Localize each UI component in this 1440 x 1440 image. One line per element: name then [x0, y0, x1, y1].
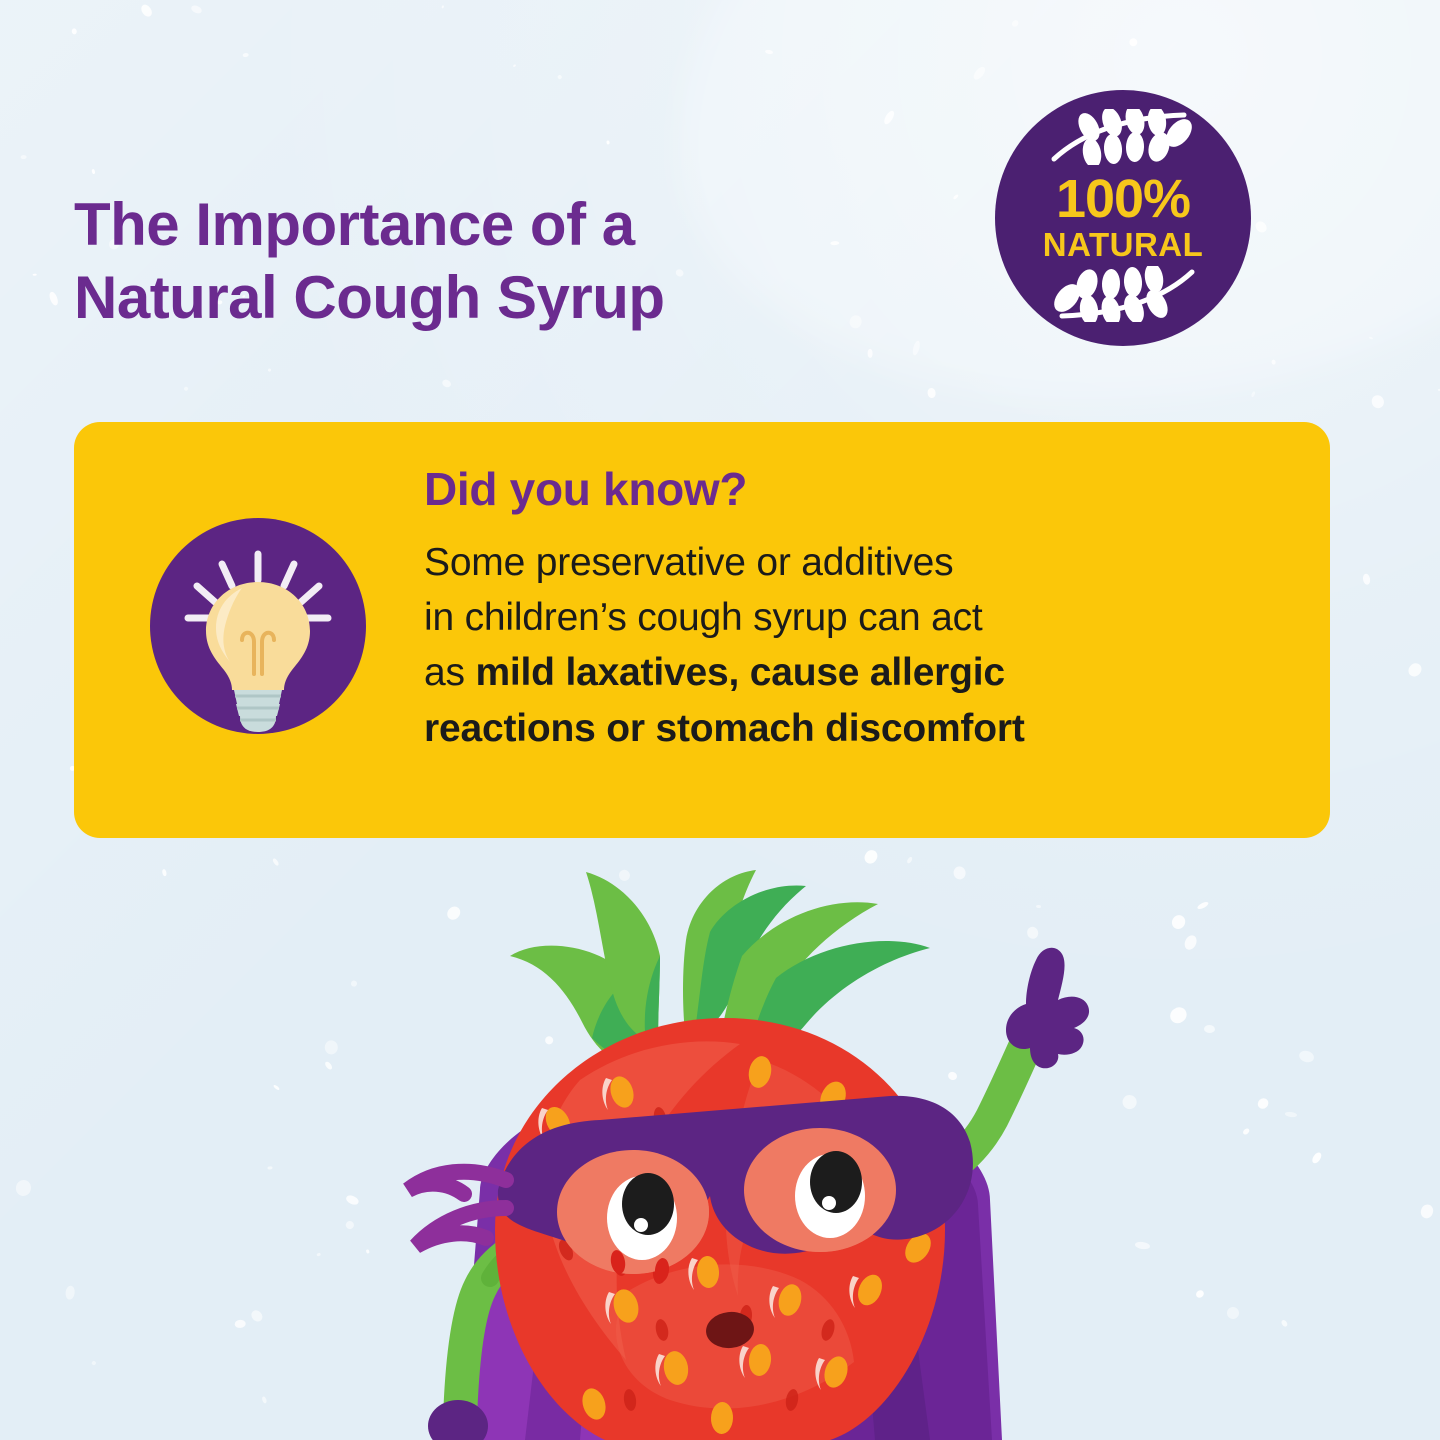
- page-title: The Importance of a Natural Cough Syrup: [74, 188, 894, 334]
- page-title-line2: Natural Cough Syrup: [74, 261, 894, 334]
- wheat-sprig-icon: [1048, 109, 1198, 170]
- lightbulb-badge: [150, 518, 366, 734]
- wheat-sprig-icon: [1048, 266, 1198, 327]
- infographic-poster: The Importance of a Natural Cough Syrup: [0, 0, 1440, 1440]
- superhero-strawberry-illustration: [330, 860, 1120, 1440]
- card-body-line3-prefix: as: [424, 651, 475, 694]
- did-you-know-card: Did you know? Some preservative or addit…: [74, 422, 1330, 838]
- natural-badge: 100% NATURAL: [995, 90, 1251, 346]
- card-body-line2: in children’s cough syrup can act: [424, 596, 983, 639]
- badge-label: NATURAL: [1043, 228, 1204, 263]
- mask-ribbons: [408, 1172, 506, 1246]
- card-body-bold2: reactions or stomach discomfort: [424, 707, 1025, 750]
- card-text-block: Did you know? Some preservative or addit…: [424, 464, 1290, 756]
- card-body-line1: Some preservative or additives: [424, 541, 953, 584]
- card-title: Did you know?: [424, 464, 1290, 515]
- card-body-bold1: mild laxatives, cause allergic: [475, 651, 1004, 694]
- card-body: Some preservative or additives in childr…: [424, 535, 1290, 757]
- badge-percent: 100%: [1056, 172, 1190, 226]
- page-title-line1: The Importance of a: [74, 191, 635, 258]
